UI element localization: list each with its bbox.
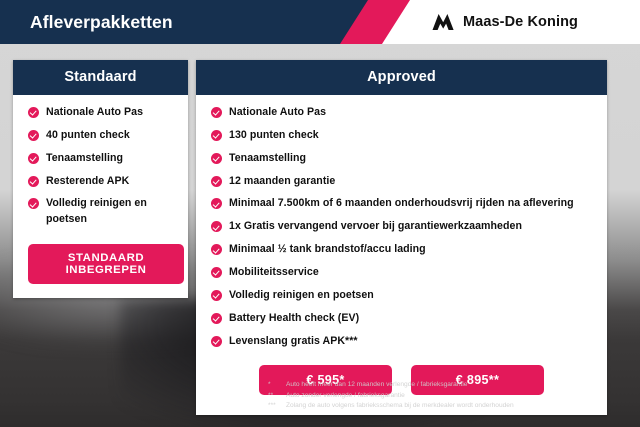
card-heading-standaard: Standaard	[13, 60, 188, 95]
feature-item: 40 punten check	[28, 128, 178, 143]
feature-label: Volledig reinigen en poetsen	[46, 196, 178, 227]
brand-name: Maas-De Koning	[463, 14, 578, 30]
maas-de-koning-logo-icon	[430, 13, 456, 31]
feature-item: Tenaamstelling	[211, 151, 597, 166]
check-circle-icon	[211, 107, 222, 118]
feature-label: Minimaal 7.500km of 6 maanden onderhouds…	[229, 196, 574, 211]
check-circle-icon	[211, 244, 222, 255]
feature-label: Nationale Auto Pas	[229, 105, 326, 120]
footnote-row: *Auto heeft meer dan 12 maanden verlengd…	[268, 380, 633, 391]
feature-item: 12 maanden garantie	[211, 174, 597, 189]
check-circle-icon	[211, 153, 222, 164]
feature-item: 130 punten check	[211, 128, 597, 143]
footnote-marker: **	[268, 391, 286, 402]
standaard-cta-wrapper: STANDAARD INBEGREPEN	[13, 235, 188, 288]
footnote-row: **Auto zonder verlengde / fabrieksgarant…	[268, 391, 633, 402]
feature-label: Mobiliteitsservice	[229, 265, 319, 280]
feature-label: Tenaamstelling	[229, 151, 306, 166]
feature-list-standaard: Nationale Auto Pas40 punten checkTenaams…	[13, 105, 188, 227]
feature-item: Battery Health check (EV)	[211, 311, 597, 326]
card-body-standaard: Nationale Auto Pas40 punten checkTenaams…	[13, 95, 188, 298]
footnote-text: Zolang de auto volgens fabrieksschema bi…	[286, 401, 633, 412]
feature-item: 1x Gratis vervangend vervoer bij garanti…	[211, 219, 597, 234]
feature-label: 130 punten check	[229, 128, 319, 143]
feature-item: Volledig reinigen en poetsen	[211, 288, 597, 303]
check-circle-icon	[211, 336, 222, 347]
check-circle-icon	[211, 221, 222, 232]
feature-label: 40 punten check	[46, 128, 130, 143]
package-card-approved: Approved Nationale Auto Pas130 punten ch…	[196, 60, 607, 415]
page-header: Afleverpakketten Maas-De Koning	[0, 0, 640, 44]
page-title: Afleverpakketten	[30, 0, 173, 44]
check-circle-icon	[211, 198, 222, 209]
check-circle-icon	[211, 313, 222, 324]
feature-item: Minimaal ½ tank brandstof/accu lading	[211, 242, 597, 257]
feature-item: Tenaamstelling	[28, 151, 178, 166]
check-circle-icon	[28, 198, 39, 209]
feature-label: Tenaamstelling	[46, 151, 123, 166]
feature-label: 1x Gratis vervangend vervoer bij garanti…	[229, 219, 522, 234]
check-circle-icon	[28, 153, 39, 164]
feature-label: Nationale Auto Pas	[46, 105, 143, 120]
feature-label: 12 maanden garantie	[229, 174, 335, 189]
brand-lockup: Maas-De Koning	[430, 0, 578, 44]
check-circle-icon	[28, 176, 39, 187]
card-heading-approved: Approved	[196, 60, 607, 95]
feature-item: Volledig reinigen en poetsen	[28, 196, 178, 227]
footnote-marker: *	[268, 380, 286, 391]
check-circle-icon	[211, 267, 222, 278]
feature-label: Levenslang gratis APK***	[229, 334, 358, 349]
check-circle-icon	[211, 290, 222, 301]
slide-canvas: Afleverpakketten Maas-De Koning Standaar…	[0, 0, 640, 427]
footnote-text: Auto zonder verlengde / fabrieksgarantie	[286, 391, 633, 402]
feature-label: Volledig reinigen en poetsen	[229, 288, 374, 303]
feature-item: Minimaal 7.500km of 6 maanden onderhouds…	[211, 196, 597, 211]
standaard-inbegrepen-button[interactable]: STANDAARD INBEGREPEN	[28, 244, 184, 284]
feature-item: Nationale Auto Pas	[28, 105, 178, 120]
check-circle-icon	[211, 130, 222, 141]
footnote-row: ***Zolang de auto volgens fabrieksschema…	[268, 401, 633, 412]
package-card-standaard: Standaard Nationale Auto Pas40 punten ch…	[13, 60, 188, 298]
feature-item: Levenslang gratis APK***	[211, 334, 597, 349]
feature-label: Minimaal ½ tank brandstof/accu lading	[229, 242, 426, 257]
check-circle-icon	[211, 176, 222, 187]
footnote-marker: ***	[268, 401, 286, 412]
feature-item: Resterende APK	[28, 174, 178, 189]
feature-item: Mobiliteitsservice	[211, 265, 597, 280]
feature-list-approved: Nationale Auto Pas130 punten checkTenaam…	[196, 105, 607, 349]
check-circle-icon	[28, 130, 39, 141]
card-body-approved: Nationale Auto Pas130 punten checkTenaam…	[196, 95, 607, 415]
feature-label: Battery Health check (EV)	[229, 311, 359, 326]
check-circle-icon	[28, 107, 39, 118]
feature-item: Nationale Auto Pas	[211, 105, 597, 120]
footnotes-block: *Auto heeft meer dan 12 maanden verlengd…	[268, 380, 633, 412]
footnote-text: Auto heeft meer dan 12 maanden verlengde…	[286, 380, 633, 391]
feature-label: Resterende APK	[46, 174, 129, 189]
